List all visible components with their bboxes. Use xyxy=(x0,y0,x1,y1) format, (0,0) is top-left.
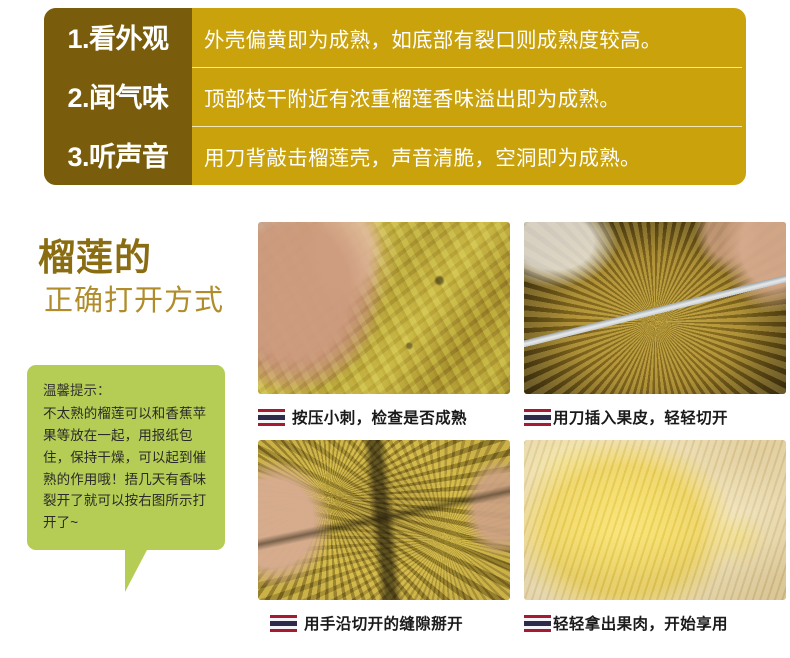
ripeness-row: 1.看外观 外壳偏黄即为成熟，如底部有裂口则成熟度较高。 xyxy=(44,8,746,67)
page-title-sub: 正确打开方式 xyxy=(44,287,224,316)
left-info-panel: 榴莲的 正确打开方式 温馨提示： 不太熟的榴莲可以和香蕉苹果等放在一起，用报纸包… xyxy=(0,215,255,635)
thai-flag-icon xyxy=(258,409,285,426)
durian-knife-cut-photo xyxy=(524,222,786,394)
ripeness-row: 2.闻气味 顶部枝干附近有浓重榴莲香味溢出即为成熟。 xyxy=(44,67,746,126)
photo-caption: 按压小刺，检查是否成熟 xyxy=(258,402,510,432)
photo-caption-text: 轻轻拿出果肉，开始享用 xyxy=(553,612,728,634)
thai-flag-icon xyxy=(524,615,551,632)
photo-caption-text: 用刀插入果皮，轻轻切开 xyxy=(553,406,728,428)
ripeness-check-table: 1.看外观 外壳偏黄即为成熟，如底部有裂口则成熟度较高。 2.闻气味 顶部枝干附… xyxy=(44,8,746,185)
tip-body-text: 不太熟的榴莲可以和香蕉苹果等放在一起，用报纸包住，保持干燥，可以起到催熟的作用哦… xyxy=(43,403,211,534)
thai-flag-icon xyxy=(270,615,297,632)
durian-flesh-photo xyxy=(524,440,786,600)
photo-caption-text: 用手沿切开的缝隙掰开 xyxy=(304,612,463,634)
durian-press-spikes-photo xyxy=(258,222,510,394)
photo-caption: 用手沿切开的缝隙掰开 xyxy=(258,608,510,638)
photo-caption: 用刀插入果皮，轻轻切开 xyxy=(524,402,786,432)
ripeness-row: 3.听声音 用刀背敲击榴莲壳，声音清脆，空洞即为成熟。 xyxy=(44,126,746,185)
tip-speech-bubble: 温馨提示： 不太熟的榴莲可以和香蕉苹果等放在一起，用报纸包住，保持干燥，可以起到… xyxy=(27,365,225,550)
photo-caption: 轻轻拿出果肉，开始享用 xyxy=(524,608,786,638)
ripeness-step-description: 顶部枝干附近有浓重榴莲香味溢出即为成熟。 xyxy=(192,67,746,126)
page-title-main: 榴莲的 xyxy=(38,239,152,276)
tip-heading: 温馨提示： xyxy=(43,381,211,402)
ripeness-step-label: 2.闻气味 xyxy=(44,67,192,126)
durian-opening-steps-grid: 按压小刺，检查是否成熟 用刀插入果皮，轻轻切开 用手沿切开的缝隙掰开 xyxy=(258,222,790,634)
ripeness-step-description: 用刀背敲击榴莲壳，声音清脆，空洞即为成熟。 xyxy=(192,126,746,185)
thai-flag-icon xyxy=(524,409,551,426)
photo-caption-text: 按压小刺，检查是否成熟 xyxy=(292,406,467,428)
ripeness-step-label: 1.看外观 xyxy=(44,8,192,67)
ripeness-step-label: 3.听声音 xyxy=(44,126,192,185)
ripeness-step-description: 外壳偏黄即为成熟，如底部有裂口则成熟度较高。 xyxy=(192,8,746,67)
durian-pry-open-photo xyxy=(258,440,510,600)
